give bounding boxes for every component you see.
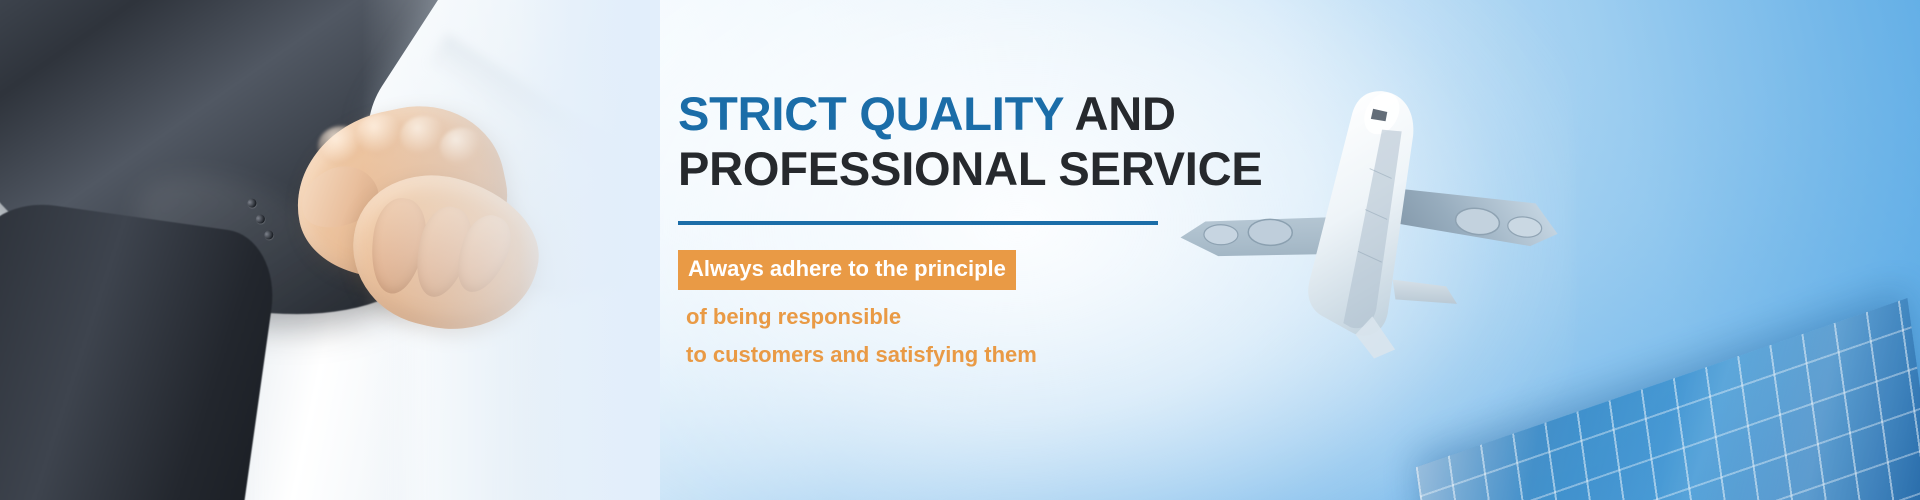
tagline-line-2: of being responsible [678,306,1298,328]
headline-line-1: STRICT QUALITY AND [678,86,1298,141]
tagline-badge-row: Always adhere to the principle [678,250,1298,290]
tagline-badge: Always adhere to the principle [678,250,1016,290]
dark-suit-body [0,196,282,500]
tagline-block: Always adhere to the principle of being … [678,250,1298,366]
promo-banner: STRICT QUALITY AND PROFESSIONAL SERVICE … [0,0,1920,500]
headline-rest-text: AND [1063,87,1175,140]
tagline-line-3: to customers and satisfying them [678,344,1298,366]
photo-edge-blend [520,0,660,500]
handshake-photo [0,0,660,500]
headline-accent-text: STRICT QUALITY [678,87,1063,140]
banner-content: STRICT QUALITY AND PROFESSIONAL SERVICE … [678,86,1298,366]
headline-line-2: PROFESSIONAL SERVICE [678,141,1298,196]
divider-rule [678,221,1158,225]
